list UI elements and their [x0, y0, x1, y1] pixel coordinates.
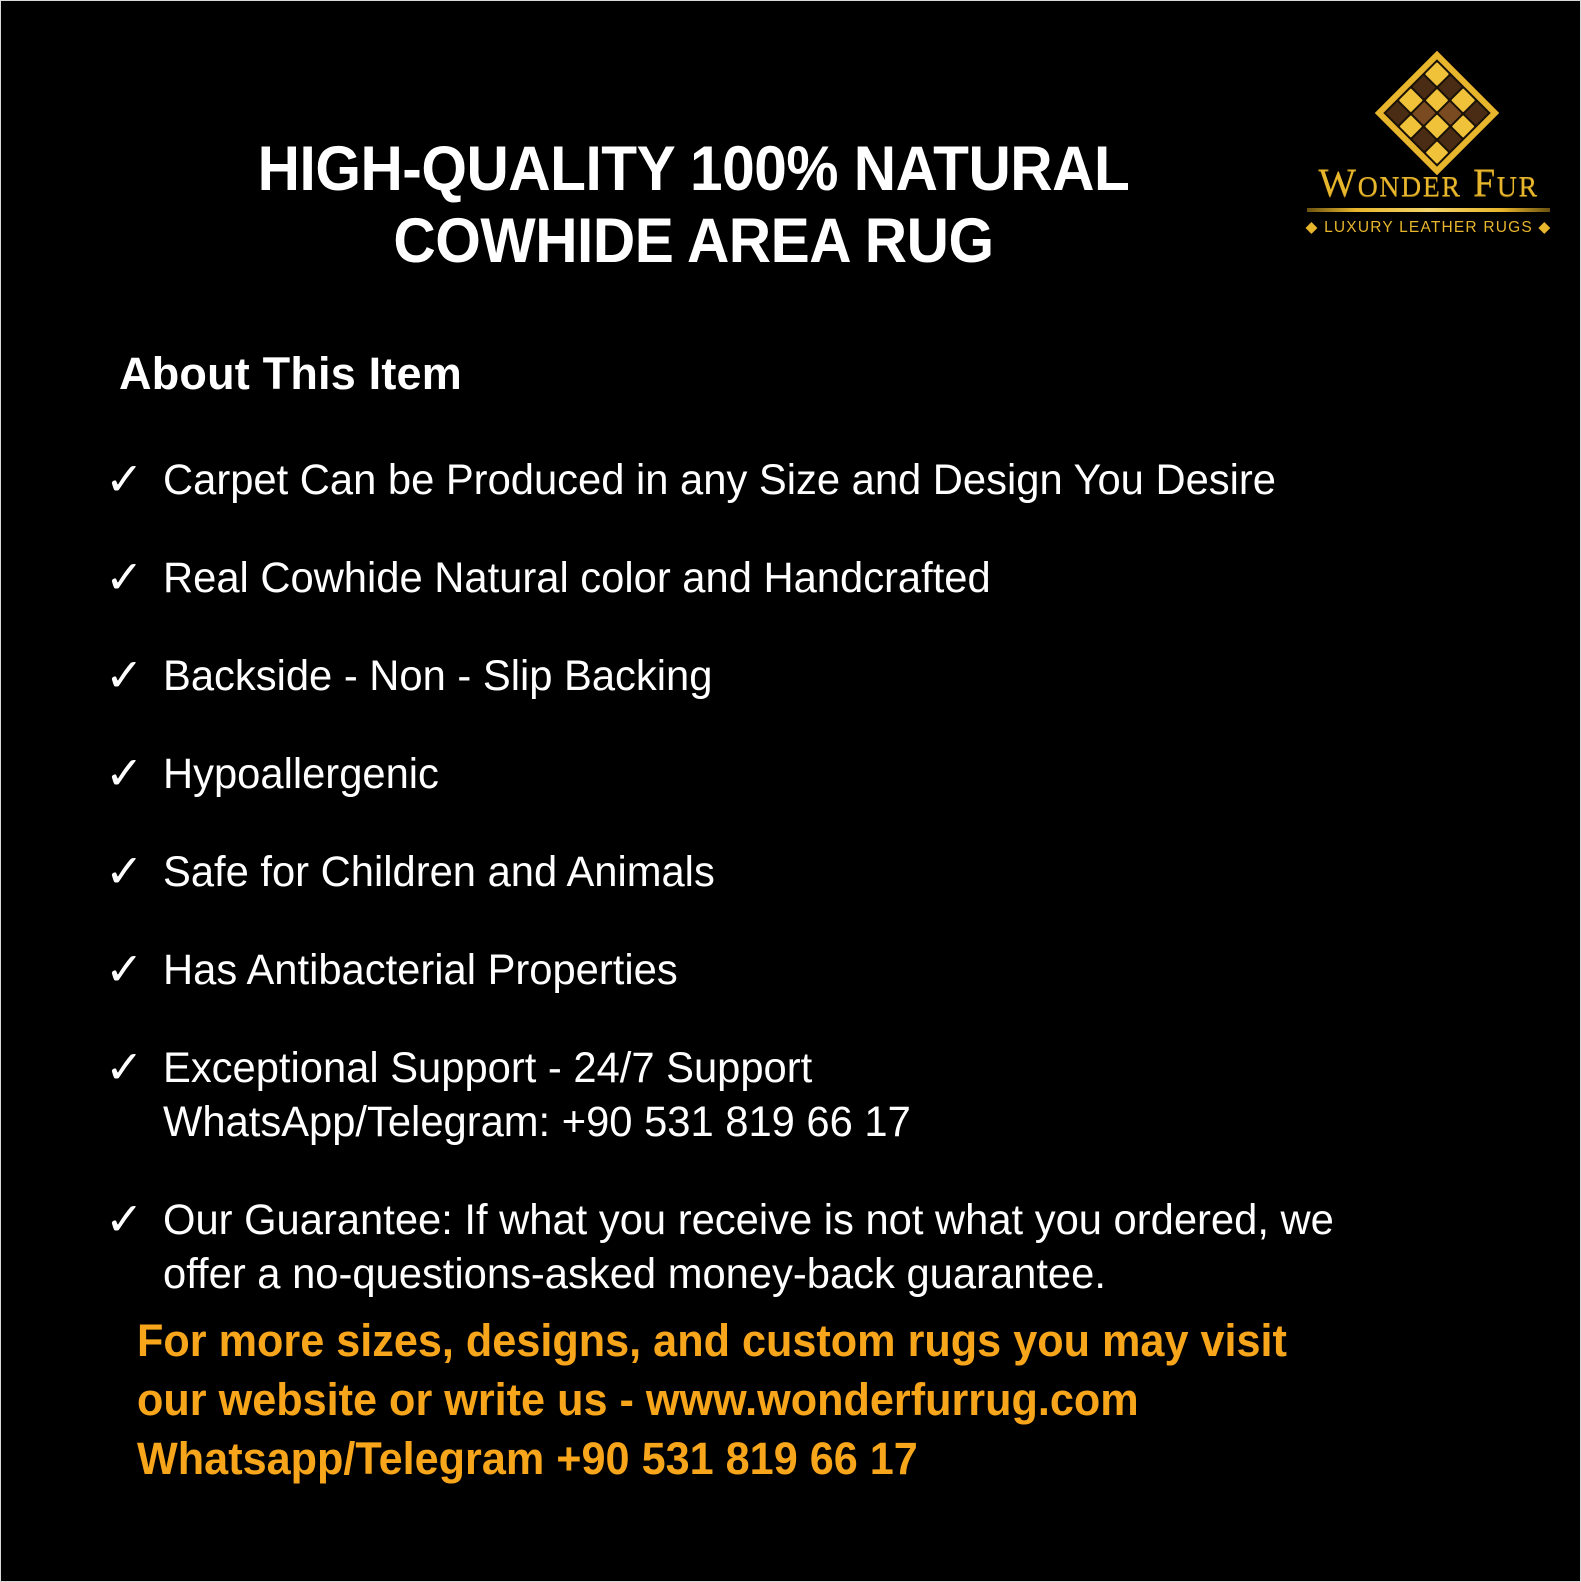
feature-item: ✓Carpet Can be Produced in any Size and … [101, 453, 1501, 507]
checkmark-icon: ✓ [101, 1041, 163, 1093]
checkmark-icon: ✓ [101, 943, 163, 995]
logo-tagline: ◆ LUXURY LEATHER RUGS ◆ [1301, 218, 1556, 237]
checkmark-icon: ✓ [101, 747, 163, 799]
page-title: HIGH-QUALITY 100% NATURAL COWHIDE AREA R… [161, 134, 1226, 278]
feature-item: ✓Real Cowhide Natural color and Handcraf… [101, 551, 1501, 605]
logo-wordmark: Wonder Fur [1301, 163, 1556, 204]
checkmark-icon: ✓ [101, 453, 163, 505]
diamond-checkerboard-logo-icon [1377, 53, 1481, 157]
checkmark-icon: ✓ [101, 845, 163, 897]
checkmark-icon: ✓ [101, 551, 163, 603]
feature-item-label: Safe for Children and Animals [163, 845, 1461, 899]
checkmark-icon: ✓ [101, 649, 163, 701]
feature-item-label: Hypoallergenic [163, 747, 1461, 801]
feature-item-label: Exceptional Support - 24/7 Support Whats… [163, 1041, 1461, 1149]
page-title-line-1: HIGH-QUALITY 100% NATURAL [161, 134, 1226, 206]
footer-contact-cta: For more sizes, designs, and custom rugs… [137, 1311, 1462, 1488]
feature-item-label: Our Guarantee: If what you receive is no… [163, 1193, 1461, 1301]
feature-item: ✓Safe for Children and Animals [101, 845, 1501, 899]
feature-item-label: Carpet Can be Produced in any Size and D… [163, 453, 1461, 507]
section-heading-about-this-item: About This Item [119, 348, 462, 400]
feature-item-label: Backside - Non - Slip Backing [163, 649, 1461, 703]
product-infographic: Wonder Fur ◆ LUXURY LEATHER RUGS ◆ HIGH-… [0, 0, 1581, 1582]
brand-logo: Wonder Fur ◆ LUXURY LEATHER RUGS ◆ [1301, 53, 1556, 237]
feature-item: ✓Backside - Non - Slip Backing [101, 649, 1501, 703]
feature-list: ✓Carpet Can be Produced in any Size and … [101, 453, 1501, 1345]
footer-cta-line-2: our website or write us - www.wonderfurr… [137, 1370, 1462, 1429]
feature-item: ✓Has Antibacterial Properties [101, 943, 1501, 997]
footer-cta-line-1: For more sizes, designs, and custom rugs… [137, 1311, 1462, 1370]
footer-cta-line-3: Whatsapp/Telegram +90 531 819 66 17 [137, 1429, 1462, 1488]
feature-item-label: Real Cowhide Natural color and Handcraft… [163, 551, 1461, 605]
feature-item: ✓Hypoallergenic [101, 747, 1501, 801]
feature-item: ✓Our Guarantee: If what you receive is n… [101, 1193, 1501, 1301]
logo-divider-rule [1307, 208, 1550, 212]
feature-item-label: Has Antibacterial Properties [163, 943, 1461, 997]
feature-item: ✓Exceptional Support - 24/7 Support What… [101, 1041, 1501, 1149]
page-title-line-2: COWHIDE AREA RUG [161, 206, 1226, 278]
checkmark-icon: ✓ [101, 1193, 163, 1245]
